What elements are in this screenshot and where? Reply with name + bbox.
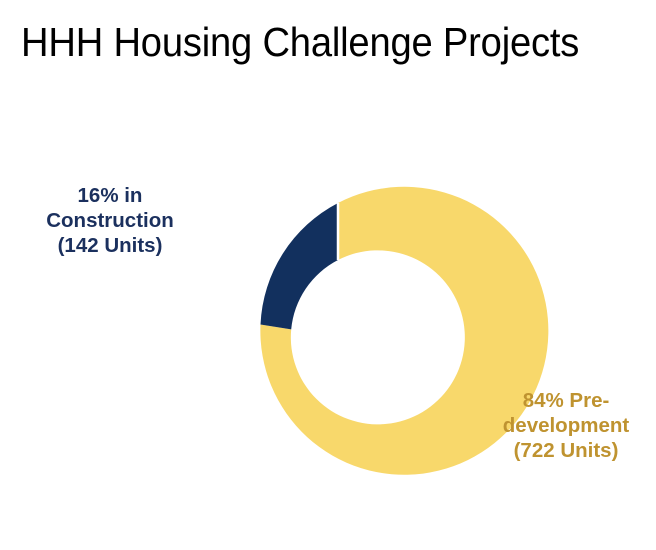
slice-label-construction: 16% in Construction (142 Units)	[18, 183, 202, 258]
donut-chart	[0, 0, 656, 550]
slice-label-predevelopment: 84% Pre- development (722 Units)	[480, 388, 652, 463]
slice-construction[interactable]	[261, 203, 339, 329]
